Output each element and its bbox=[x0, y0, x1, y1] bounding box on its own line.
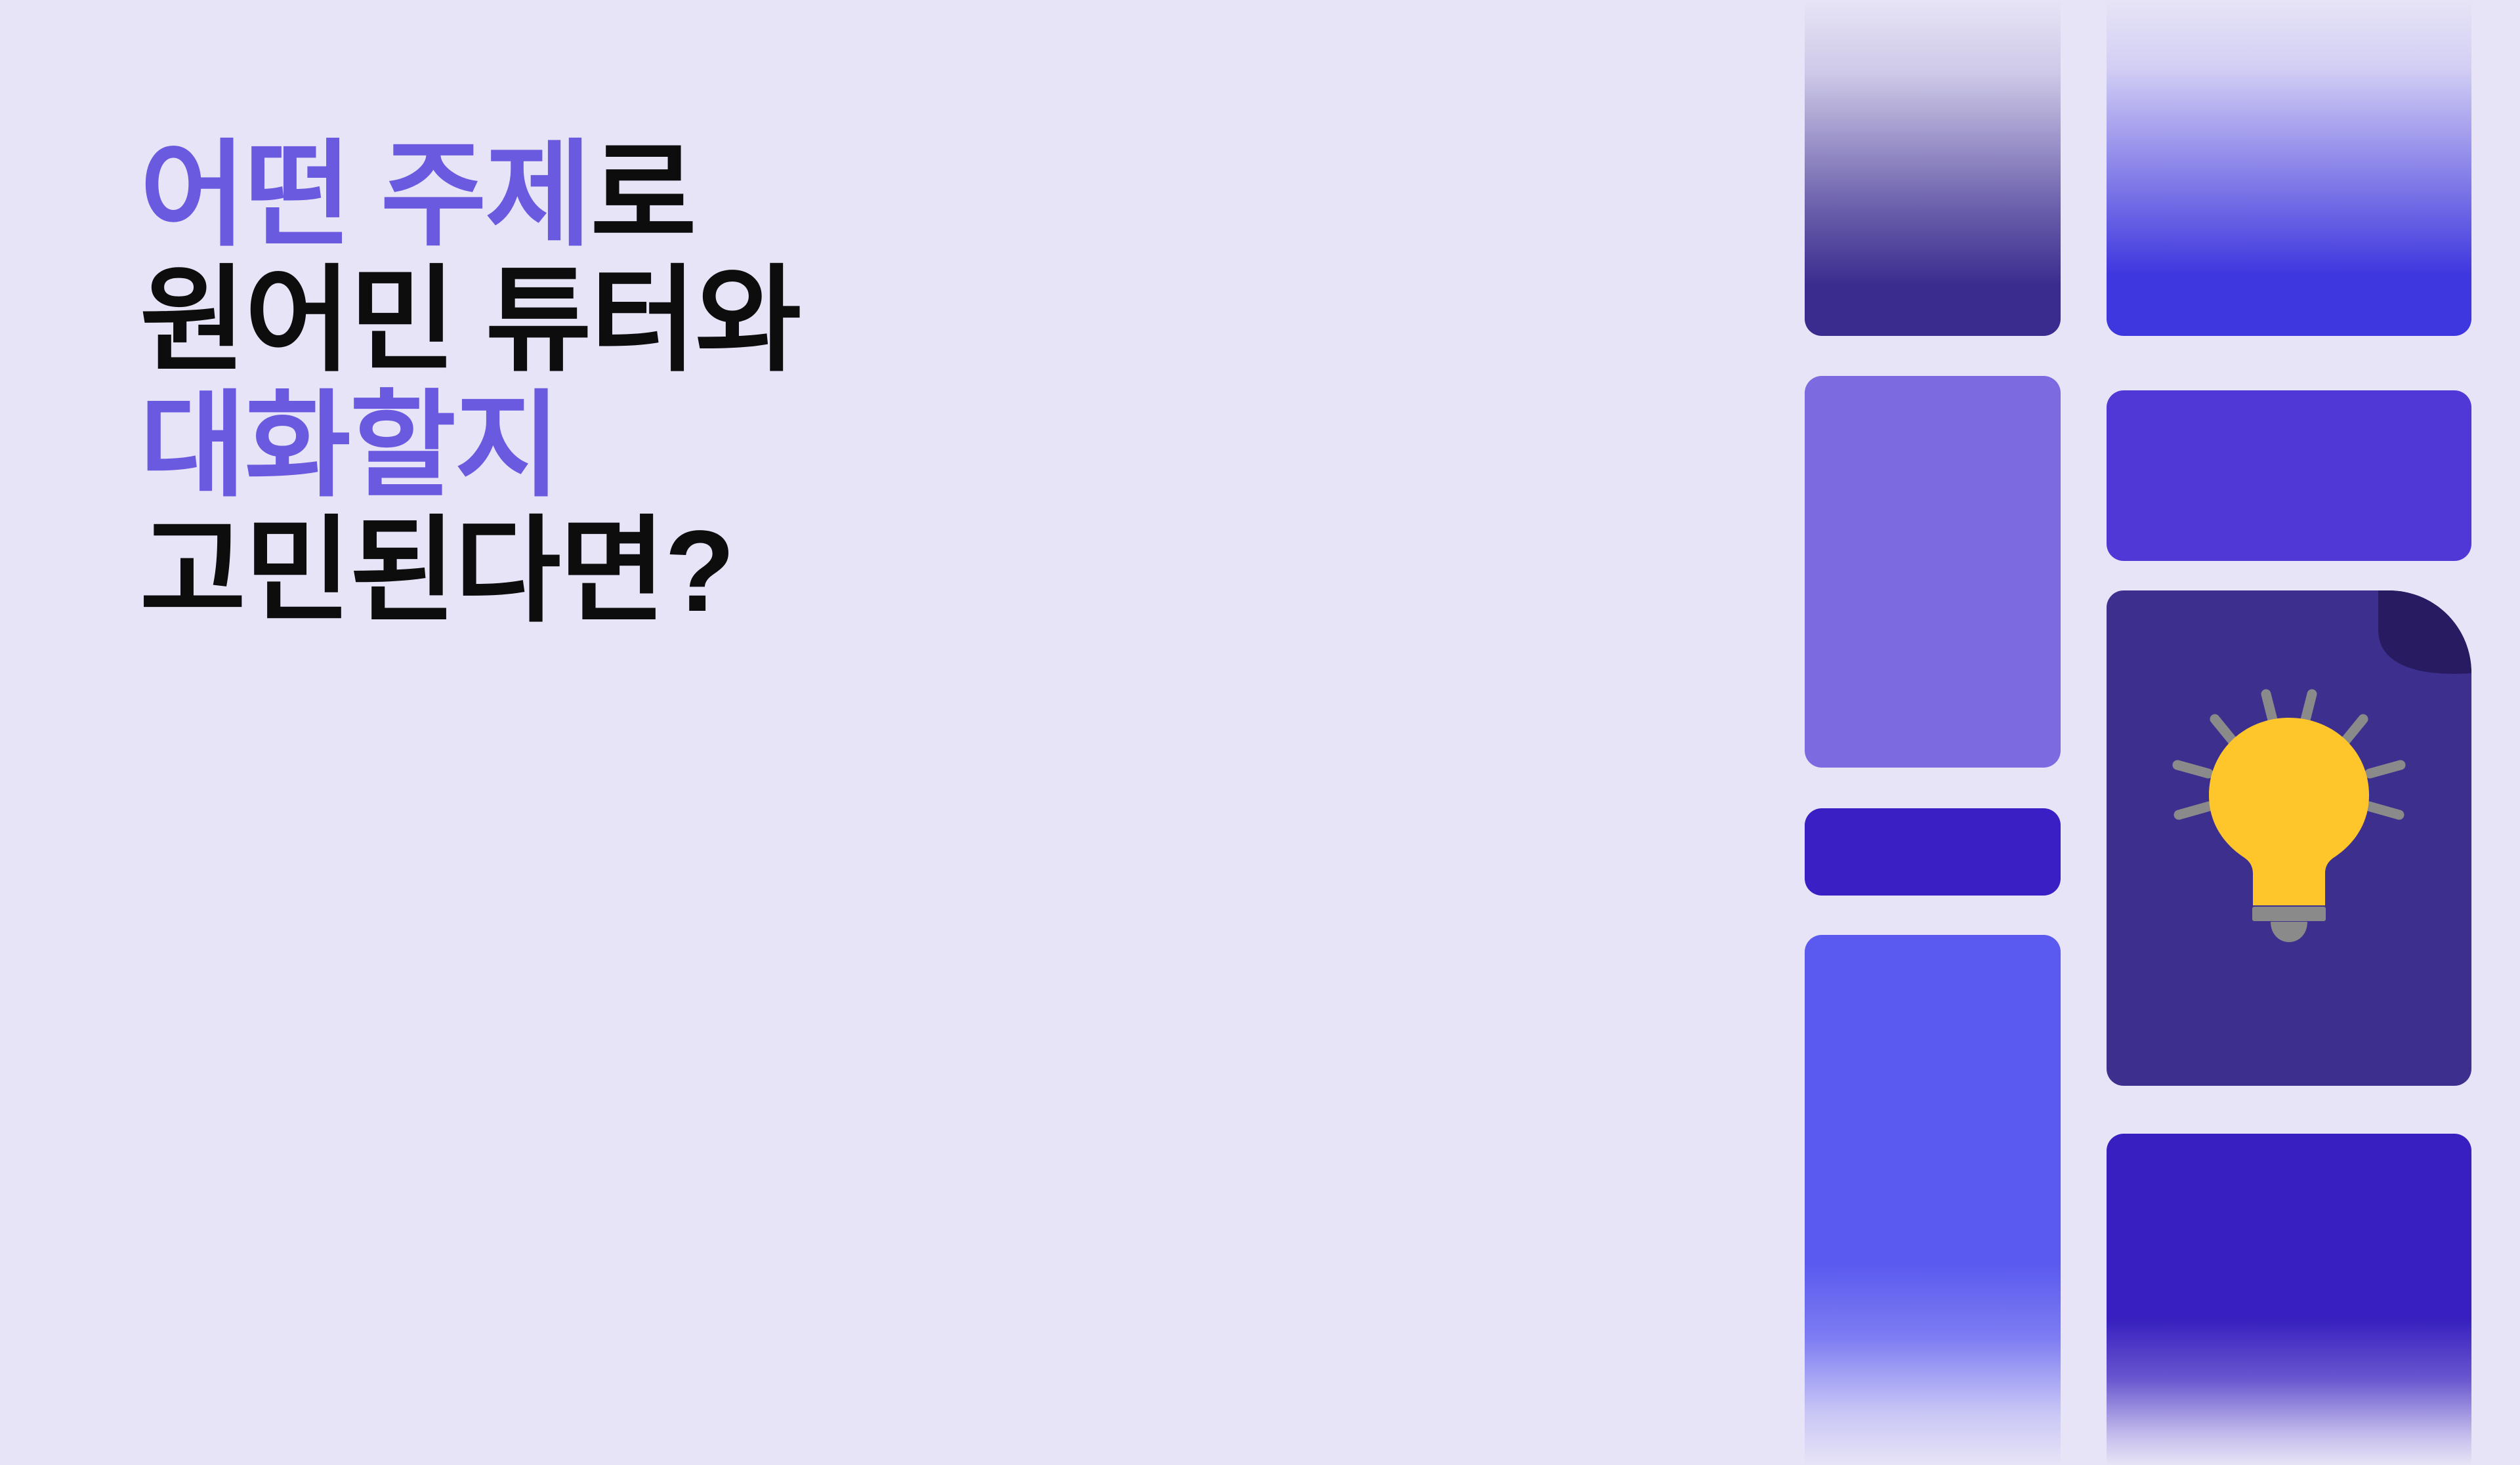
headline-line-2: 원어민 튜터와 bbox=[140, 271, 1387, 371]
headline: 어떤 주제로 원어민 튜터와 대화할지 고민된다면? bbox=[140, 146, 1387, 622]
mosaic-block-left-1 bbox=[1805, 0, 2061, 336]
mosaic-block-left-3 bbox=[1805, 808, 2061, 896]
headline-line-1-accent: 어떤 주제 bbox=[140, 131, 591, 260]
headline-line-4: 고민된다면? bbox=[140, 522, 1387, 622]
mosaic-block-right-1 bbox=[2107, 0, 2471, 336]
promo-banner: 어떤 주제로 원어민 튜터와 대화할지 고민된다면? bbox=[0, 0, 2520, 1465]
mosaic-block-left-2 bbox=[1805, 376, 2061, 768]
headline-line-1: 어떤 주제로 bbox=[140, 146, 1387, 246]
headline-line-2-plain: 원어민 튜터와 bbox=[140, 257, 800, 385]
headline-line-3-accent: 대화할지 bbox=[140, 382, 560, 510]
headline-line-4-plain: 고민된다면? bbox=[140, 507, 734, 636]
mosaic-block-right-2 bbox=[2107, 390, 2471, 561]
lightbulb-base-icon bbox=[2252, 907, 2326, 921]
decorative-block-mosaic bbox=[1805, 0, 2471, 1465]
mosaic-block-right-4 bbox=[2107, 1134, 2471, 1465]
mosaic-block-left-4 bbox=[1805, 935, 2061, 1465]
lightbulb-card bbox=[2107, 590, 2471, 1086]
headline-line-3: 대화할지 bbox=[140, 396, 1387, 497]
headline-line-1-plain: 로 bbox=[591, 131, 696, 260]
